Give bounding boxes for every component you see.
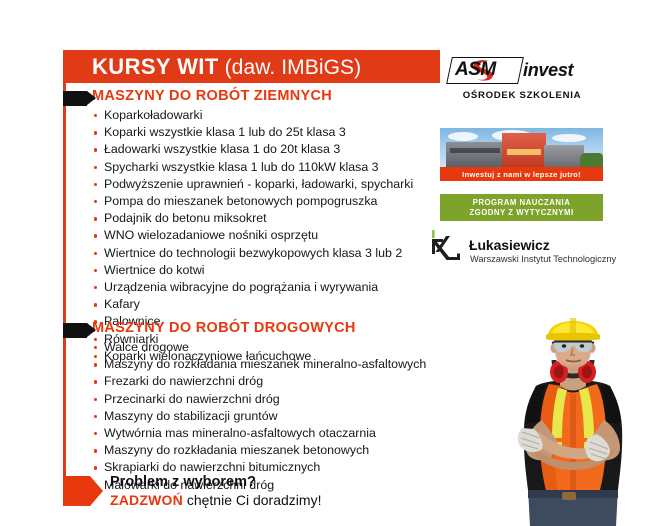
asm-invest-logo: ASM invest OŚRODEK SZKOLENIA bbox=[442, 55, 602, 101]
program-badge-line1: PROGRAM NAUCZANIA bbox=[473, 198, 571, 208]
call-to-action: Problem z wyborem? ZADZWOŃ chętnie Ci do… bbox=[63, 473, 443, 519]
construction-worker-photo bbox=[492, 302, 654, 526]
cta-advice: ZADZWOŃ chętnie Ci doradzimy! bbox=[110, 491, 321, 509]
lukasiewicz-logo: Łukasiewicz Warszawski Instytut Technolo… bbox=[429, 230, 644, 274]
cta-question: Problem z wyborem? bbox=[110, 473, 321, 491]
list-item: Podajnik do betonu miksokret bbox=[92, 210, 413, 227]
foliage-shape bbox=[580, 153, 603, 167]
asm-logo-invest-text: invest bbox=[523, 60, 573, 81]
sidebar-column: ASM invest OŚRODEK SZKOLENIA Inwestuj z … bbox=[420, 45, 654, 290]
flyer-title-strong: KURSY WIT bbox=[92, 54, 219, 79]
list-item: Spycharki wszystkie klasa 1 lub do 110kW… bbox=[92, 159, 413, 176]
building-right bbox=[544, 145, 584, 167]
banner-caption: Inwestuj z nami w lepsze jutro! bbox=[440, 167, 603, 181]
list-item: Koparki wszystkie klasa 1 lub do 25t kla… bbox=[92, 124, 413, 141]
list-item: Pompa do mieszanek betonowych pompogrusz… bbox=[92, 193, 413, 210]
cta-rest-text: chętnie Ci doradzimy! bbox=[183, 492, 322, 508]
section-road-machines: MASZYNY DO ROBÓT DROGOWYCH Walce drogowe… bbox=[63, 320, 426, 494]
pennant-marker-icon bbox=[63, 323, 87, 338]
cta-text-block: Problem z wyborem? ZADZWOŃ chętnie Ci do… bbox=[110, 473, 321, 509]
flyer-canvas: KURSY WIT (daw. IMBiGS) MASZYNY DO ROBÓT… bbox=[0, 0, 654, 526]
list-item: Przecinarki do nawierzchni dróg bbox=[92, 391, 426, 408]
lukasiewicz-name: Łukasiewicz bbox=[469, 237, 550, 253]
building-photo-banner: Inwestuj z nami w lepsze jutro! bbox=[440, 128, 603, 181]
program-badge-line2: ZGODNY Z WYTYCZNYMI bbox=[469, 208, 573, 218]
list-item: Ładowarki wszystkie klasa 1 do 20t klasa… bbox=[92, 141, 413, 158]
list-item: Podwyższenie uprawnień - koparki, ładowa… bbox=[92, 176, 413, 193]
list-item: Wiertnice do kotwi bbox=[92, 262, 413, 279]
cta-call-word: ZADZWOŃ bbox=[110, 492, 183, 508]
section-heading: MASZYNY DO ROBÓT DROGOWYCH bbox=[92, 320, 426, 337]
list-item: WNO wielozadaniowe nośniki osprzętu bbox=[92, 227, 413, 244]
program-badge: PROGRAM NAUCZANIA ZGODNY Z WYTYCZNYMI bbox=[440, 194, 603, 221]
flyer-title-bar: KURSY WIT (daw. IMBiGS) bbox=[63, 50, 440, 83]
list-item: Wiertnice do technologii bezwykopowych k… bbox=[92, 245, 413, 262]
flyer-title-light: (daw. IMBiGS) bbox=[225, 56, 362, 79]
lukasiewicz-mark-icon bbox=[429, 230, 463, 264]
section-heading: MASZYNY DO ROBÓT ZIEMNYCH bbox=[92, 88, 413, 105]
building-photo bbox=[440, 128, 603, 167]
building-left bbox=[446, 142, 504, 167]
building-center bbox=[502, 133, 546, 167]
list-item: Koparkoładowarki bbox=[92, 107, 413, 124]
list-item: Kafary bbox=[92, 296, 413, 313]
list-item: Walce drogowe bbox=[92, 339, 426, 356]
cloud-shape bbox=[552, 134, 586, 142]
asm-logo-text: ASM bbox=[455, 59, 496, 81]
cta-arrow-icon bbox=[63, 476, 90, 506]
list-item: Wytwórnia mas mineralno-asfaltowych otac… bbox=[92, 425, 426, 442]
flyer-title: KURSY WIT (daw. IMBiGS) bbox=[92, 54, 361, 80]
list-item: Frezarki do nawierzchni dróg bbox=[92, 373, 426, 390]
list-item: Urządzenia wibracyjne do pogrążania i wy… bbox=[92, 279, 413, 296]
list-item: Maszyny do rozkładania mieszanek mineral… bbox=[92, 356, 426, 373]
course-list: Walce drogowe Maszyny do rozkładania mie… bbox=[63, 339, 426, 494]
pennant-marker-icon bbox=[63, 91, 87, 106]
list-item: Maszyny do stabilizacji gruntów bbox=[92, 408, 426, 425]
cloud-shape bbox=[448, 132, 478, 141]
list-item: Maszyny do rozkładania mieszanek betonow… bbox=[92, 442, 426, 459]
lukasiewicz-subtitle: Warszawski Instytut Technologiczny bbox=[470, 254, 616, 264]
asm-logo-mark-icon: ASM invest bbox=[447, 55, 597, 85]
asm-logo-subtitle: OŚRODEK SZKOLENIA bbox=[442, 90, 602, 101]
